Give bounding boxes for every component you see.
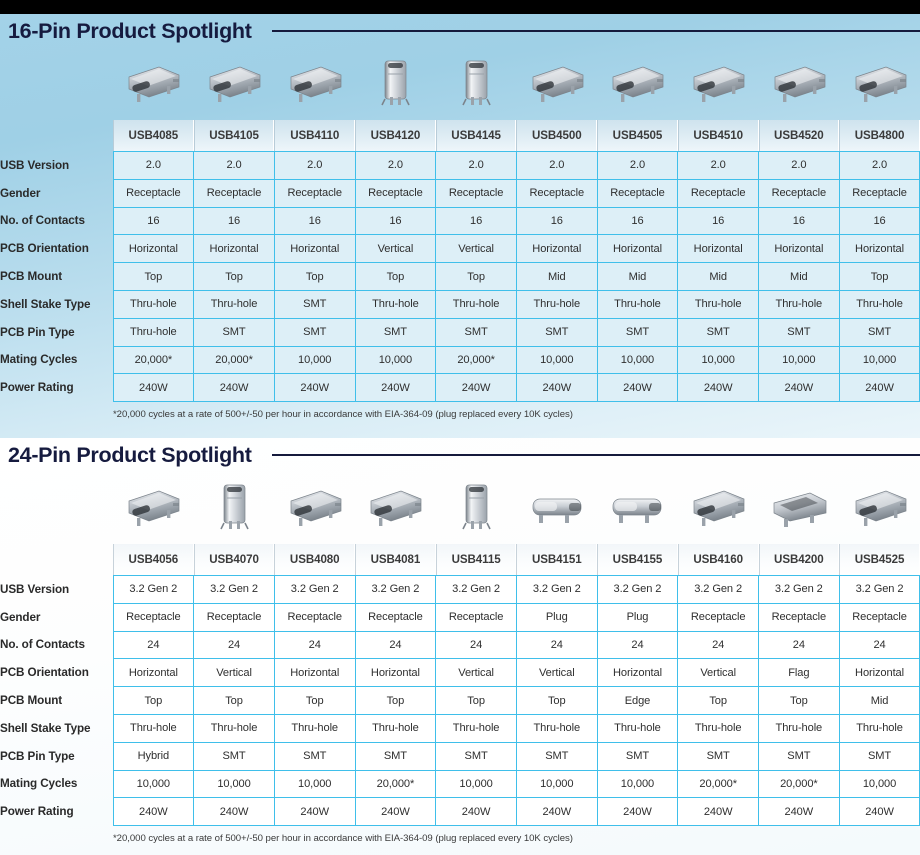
- spec-value-cell: Vertical: [678, 659, 759, 687]
- spec-value-cell: 3.2 Gen 2: [678, 576, 759, 604]
- spec-value-cell: SMT: [516, 318, 597, 346]
- spec-value-cell: 2.0: [839, 152, 920, 180]
- spec-value-cell: Horizontal: [274, 235, 355, 263]
- spec-value-cell: 10,000: [839, 346, 920, 374]
- spec-value-cell: Horizontal: [597, 235, 678, 263]
- spec-value-cell: Top: [678, 687, 759, 715]
- spec-value-cell: 3.2 Gen 2: [355, 576, 436, 604]
- spec-value-cell: SMT: [597, 318, 678, 346]
- spec-value-cell: Receptacle: [274, 603, 355, 631]
- spec-value-cell: 240W: [678, 374, 759, 402]
- spec-value-cell: Top: [355, 687, 436, 715]
- spec-row-label: USB Version: [0, 152, 113, 180]
- spec-value-cell: Thru-hole: [839, 714, 920, 742]
- spec-row-label: Shell Stake Type: [0, 714, 113, 742]
- spec-value-cell: 10,000: [678, 346, 759, 374]
- spec-value-cell: Hybrid: [113, 742, 194, 770]
- product-image-cell[interactable]: [597, 472, 678, 544]
- spec-value-cell: 10,000: [274, 346, 355, 374]
- table-row: Shell Stake TypeThru-holeThru-holeThru-h…: [0, 714, 920, 742]
- product-name-header[interactable]: USB4525: [839, 544, 920, 575]
- spec-value-cell: 240W: [274, 374, 355, 402]
- spec-value-cell: SMT: [597, 742, 678, 770]
- spec-row-label: PCB Mount: [0, 263, 113, 291]
- product-image-cell[interactable]: [516, 48, 597, 120]
- spec-value-cell: SMT: [436, 742, 517, 770]
- spec-value-cell: Mid: [597, 263, 678, 291]
- table-row: PCB OrientationHorizontalHorizontalHoriz…: [0, 235, 920, 263]
- spec-value-cell: 2.0: [194, 152, 275, 180]
- product-image-cell[interactable]: [597, 48, 678, 120]
- spec-value-cell: 20,000*: [113, 346, 194, 374]
- title-divider: [272, 454, 920, 456]
- spec-value-cell: 240W: [597, 798, 678, 826]
- spec-row-label: PCB Orientation: [0, 235, 113, 263]
- spec-value-cell: 240W: [355, 798, 436, 826]
- table-row: PCB OrientationHorizontalVerticalHorizon…: [0, 659, 920, 687]
- spec-value-cell: SMT: [274, 742, 355, 770]
- usb-c-receptacle-icon: [846, 477, 914, 540]
- spec-value-cell: Receptacle: [355, 179, 436, 207]
- spec-value-cell: Flag: [759, 659, 840, 687]
- spec-value-cell: Horizontal: [597, 659, 678, 687]
- spec-value-cell: SMT: [678, 318, 759, 346]
- spec-value-cell: Horizontal: [355, 659, 436, 687]
- spec-value-cell: 3.2 Gen 2: [113, 576, 194, 604]
- spec-value-cell: 3.2 Gen 2: [759, 576, 840, 604]
- spec-value-cell: 10,000: [597, 770, 678, 798]
- spec-value-cell: 240W: [839, 374, 920, 402]
- product-name-header[interactable]: USB4145: [436, 120, 517, 151]
- usb-c-vertical-icon: [366, 53, 424, 116]
- spec-value-cell: Thru-hole: [759, 290, 840, 318]
- spec-value-cell: 16: [113, 207, 194, 235]
- spec-comparison-table: USB Version2.02.02.02.02.02.02.02.02.02.…: [0, 151, 920, 402]
- usb-c-receptacle-icon: [119, 477, 187, 540]
- table-row: No. of Contacts16161616161616161616: [0, 207, 920, 235]
- table-row: PCB Pin TypeHybridSMTSMTSMTSMTSMTSMTSMTS…: [0, 742, 920, 770]
- usb-c-receptacle-icon: [684, 53, 752, 116]
- spec-row-label: Mating Cycles: [0, 346, 113, 374]
- spec-value-cell: Receptacle: [355, 603, 436, 631]
- product-image-cell[interactable]: [113, 48, 194, 120]
- product-name-header[interactable]: USB4115: [436, 544, 517, 575]
- spec-value-cell: Receptacle: [516, 179, 597, 207]
- product-name-header[interactable]: USB4085: [113, 120, 194, 151]
- spec-value-cell: Mid: [759, 263, 840, 291]
- spec-value-cell: 3.2 Gen 2: [597, 576, 678, 604]
- spec-row-label: Gender: [0, 603, 113, 631]
- product-name-header[interactable]: USB4080: [274, 544, 355, 575]
- spec-value-cell: Top: [274, 263, 355, 291]
- spec-value-cell: 240W: [274, 798, 355, 826]
- spec-value-cell: 240W: [355, 374, 436, 402]
- spec-value-cell: Thru-hole: [194, 290, 275, 318]
- spec-value-cell: 10,000: [194, 770, 275, 798]
- table-row: USB Version3.2 Gen 23.2 Gen 23.2 Gen 23.…: [0, 576, 920, 604]
- spec-value-cell: 240W: [113, 798, 194, 826]
- spec-value-cell: Thru-hole: [355, 290, 436, 318]
- spec-value-cell: 3.2 Gen 2: [274, 576, 355, 604]
- spec-value-cell: 16: [436, 207, 517, 235]
- spec-value-cell: 10,000: [436, 770, 517, 798]
- spec-row-label: PCB Orientation: [0, 659, 113, 687]
- spec-value-cell: Receptacle: [597, 179, 678, 207]
- spec-value-cell: 240W: [516, 374, 597, 402]
- product-image-cell[interactable]: [678, 472, 759, 544]
- spec-value-cell: Thru-hole: [274, 714, 355, 742]
- spec-value-cell: 10,000: [516, 346, 597, 374]
- product-image-cell[interactable]: [759, 48, 840, 120]
- spec-value-cell: Thru-hole: [678, 290, 759, 318]
- usb-c-vertical-icon: [447, 477, 505, 540]
- spec-value-cell: Vertical: [436, 235, 517, 263]
- spec-value-cell: Top: [113, 263, 194, 291]
- spec-value-cell: Mid: [678, 263, 759, 291]
- spec-value-cell: Thru-hole: [678, 714, 759, 742]
- usb-c-vertical-icon: [447, 53, 505, 116]
- product-name-header[interactable]: USB4070: [194, 544, 275, 575]
- spec-value-cell: 2.0: [274, 152, 355, 180]
- spec-value-cell: Thru-hole: [759, 714, 840, 742]
- spec-row-label: PCB Pin Type: [0, 318, 113, 346]
- table-row: USB Version2.02.02.02.02.02.02.02.02.02.…: [0, 152, 920, 180]
- table-row: GenderReceptacleReceptacleReceptacleRece…: [0, 603, 920, 631]
- spec-value-cell: Vertical: [355, 235, 436, 263]
- table-footnote: *20,000 cycles at a rate of 500+/-50 per…: [0, 826, 920, 844]
- table-row: No. of Contacts24242424242424242424: [0, 631, 920, 659]
- spec-value-cell: Vertical: [436, 659, 517, 687]
- usb-c-flag-icon: [766, 477, 832, 540]
- usb-c-receptacle-icon: [281, 53, 349, 116]
- spec-value-cell: 24: [436, 631, 517, 659]
- spec-value-cell: 240W: [194, 798, 275, 826]
- table-row: Mating Cycles10,00010,00010,00020,000*10…: [0, 770, 920, 798]
- spec-row-label: Shell Stake Type: [0, 290, 113, 318]
- product-image-cell[interactable]: [678, 48, 759, 120]
- spec-value-cell: Horizontal: [759, 235, 840, 263]
- product-image-cell[interactable]: [839, 472, 920, 544]
- spec-value-cell: 3.2 Gen 2: [516, 576, 597, 604]
- spec-value-cell: Receptacle: [274, 179, 355, 207]
- spec-value-cell: Top: [759, 687, 840, 715]
- spec-value-cell: Thru-hole: [194, 714, 275, 742]
- spec-value-cell: SMT: [759, 742, 840, 770]
- spec-row-label: No. of Contacts: [0, 631, 113, 659]
- spec-value-cell: 240W: [597, 374, 678, 402]
- spec-row-label: No. of Contacts: [0, 207, 113, 235]
- spec-value-cell: Receptacle: [194, 603, 275, 631]
- spec-value-cell: 2.0: [678, 152, 759, 180]
- spec-value-cell: Top: [194, 687, 275, 715]
- product-spotlight-page: 16-Pin Product Spotlight: [0, 0, 920, 855]
- spec-value-cell: 10,000: [113, 770, 194, 798]
- spec-value-cell: Horizontal: [113, 235, 194, 263]
- spec-value-cell: Receptacle: [194, 179, 275, 207]
- product-name-header[interactable]: USB4105: [194, 120, 275, 151]
- spec-value-cell: 20,000*: [759, 770, 840, 798]
- spec-value-cell: 20,000*: [436, 346, 517, 374]
- spec-value-cell: SMT: [355, 318, 436, 346]
- spec-value-cell: Receptacle: [839, 179, 920, 207]
- product-image-cell[interactable]: [759, 472, 840, 544]
- spec-value-cell: 2.0: [436, 152, 517, 180]
- product-image-cell[interactable]: [194, 472, 275, 544]
- product-name-header-row: USB4056USB4070USB4080USB4081USB4115USB41…: [0, 544, 920, 575]
- product-name-header[interactable]: USB4500: [516, 120, 597, 151]
- section-title-row: 24-Pin Product Spotlight: [0, 438, 920, 472]
- spec-value-cell: Receptacle: [678, 179, 759, 207]
- spec-value-cell: Top: [274, 687, 355, 715]
- product-name-header[interactable]: USB4800: [839, 120, 920, 151]
- product-name-header[interactable]: USB4056: [113, 544, 194, 575]
- product-name-header[interactable]: USB4505: [597, 120, 678, 151]
- spec-value-cell: 240W: [678, 798, 759, 826]
- spec-value-cell: Thru-hole: [516, 290, 597, 318]
- spec-value-cell: Horizontal: [516, 235, 597, 263]
- spec-value-cell: 16: [355, 207, 436, 235]
- spec-value-cell: 24: [355, 631, 436, 659]
- spec-row-label: PCB Mount: [0, 687, 113, 715]
- spec-value-cell: Vertical: [516, 659, 597, 687]
- product-name-header[interactable]: USB4520: [759, 120, 840, 151]
- spec-value-cell: 10,000: [355, 346, 436, 374]
- spec-value-cell: 10,000: [839, 770, 920, 798]
- spec-value-cell: Thru-hole: [516, 714, 597, 742]
- table-row: Power Rating240W240W240W240W240W240W240W…: [0, 374, 920, 402]
- product-name-header[interactable]: USB4160: [678, 544, 759, 575]
- spec-row-label: Power Rating: [0, 798, 113, 826]
- spec-value-cell: SMT: [274, 290, 355, 318]
- table-row: Mating Cycles20,000*20,000*10,00010,0002…: [0, 346, 920, 374]
- spec-value-cell: Receptacle: [113, 603, 194, 631]
- usb-c-plug-icon: [605, 477, 669, 540]
- table-row: Shell Stake TypeThru-holeThru-holeSMTThr…: [0, 290, 920, 318]
- spec-value-cell: 240W: [436, 798, 517, 826]
- spec-value-cell: Thru-hole: [436, 290, 517, 318]
- spec-value-cell: 3.2 Gen 2: [436, 576, 517, 604]
- spec-value-cell: Horizontal: [113, 659, 194, 687]
- spec-value-cell: Horizontal: [678, 235, 759, 263]
- spec-value-cell: Receptacle: [678, 603, 759, 631]
- spec-value-cell: Mid: [839, 687, 920, 715]
- section-title-row: 16-Pin Product Spotlight: [0, 14, 920, 48]
- spec-value-cell: 10,000: [597, 346, 678, 374]
- spec-value-cell: 24: [113, 631, 194, 659]
- usb-c-receptacle-icon: [765, 53, 833, 116]
- product-image-cell[interactable]: [274, 48, 355, 120]
- spec-value-cell: 2.0: [113, 152, 194, 180]
- spec-value-cell: 20,000*: [678, 770, 759, 798]
- spec-value-cell: Thru-hole: [597, 714, 678, 742]
- spec-value-cell: 2.0: [597, 152, 678, 180]
- spec-value-cell: SMT: [194, 318, 275, 346]
- spec-value-cell: 240W: [436, 374, 517, 402]
- spec-value-cell: 16: [839, 207, 920, 235]
- product-image-cell[interactable]: [355, 48, 436, 120]
- spec-value-cell: 24: [597, 631, 678, 659]
- spec-value-cell: SMT: [355, 742, 436, 770]
- spec-value-cell: 24: [759, 631, 840, 659]
- page-title: 16-Pin Product Spotlight: [8, 19, 252, 44]
- spec-row-label: Gender: [0, 179, 113, 207]
- usb-c-receptacle-icon: [684, 477, 752, 540]
- usb-c-receptacle-icon: [200, 53, 268, 116]
- spec-value-cell: Receptacle: [759, 179, 840, 207]
- table-row: PCB MountTopTopTopTopTopMidMidMidMidTop: [0, 263, 920, 291]
- section-24-pin: 24-Pin Product Spotlight: [0, 438, 920, 855]
- product-image-cell[interactable]: [355, 472, 436, 544]
- spec-value-cell: SMT: [274, 318, 355, 346]
- spec-value-cell: Receptacle: [113, 179, 194, 207]
- table-footnote: *20,000 cycles at a rate of 500+/-50 per…: [0, 402, 920, 420]
- product-name-header[interactable]: USB4510: [678, 120, 759, 151]
- spec-value-cell: 2.0: [759, 152, 840, 180]
- spec-value-cell: Top: [113, 687, 194, 715]
- usb-c-receptacle-icon: [361, 477, 429, 540]
- spec-value-cell: 24: [516, 631, 597, 659]
- spec-value-cell: Horizontal: [839, 659, 920, 687]
- spec-value-cell: Top: [194, 263, 275, 291]
- spec-value-cell: SMT: [436, 318, 517, 346]
- usb-c-receptacle-icon: [603, 53, 671, 116]
- spec-value-cell: Receptacle: [839, 603, 920, 631]
- spec-value-cell: Thru-hole: [113, 714, 194, 742]
- title-divider: [272, 30, 920, 32]
- product-image-cell[interactable]: [194, 48, 275, 120]
- spec-value-cell: Edge: [597, 687, 678, 715]
- spec-value-cell: Vertical: [194, 659, 275, 687]
- product-image-strip: [0, 48, 920, 120]
- spec-value-cell: 24: [678, 631, 759, 659]
- spec-value-cell: 16: [194, 207, 275, 235]
- product-name-header[interactable]: USB4155: [597, 544, 678, 575]
- spec-value-cell: 2.0: [516, 152, 597, 180]
- spec-comparison-table: USB Version3.2 Gen 23.2 Gen 23.2 Gen 23.…: [0, 575, 920, 826]
- top-black-bar: [0, 0, 920, 14]
- product-image-cell[interactable]: [274, 472, 355, 544]
- spec-value-cell: Top: [839, 263, 920, 291]
- spec-value-cell: 24: [839, 631, 920, 659]
- usb-c-receptacle-icon: [119, 53, 187, 116]
- spec-value-cell: 3.2 Gen 2: [194, 576, 275, 604]
- product-image-cell[interactable]: [113, 472, 194, 544]
- table-row: Power Rating240W240W240W240W240W240W240W…: [0, 798, 920, 826]
- spec-value-cell: 10,000: [759, 346, 840, 374]
- spec-value-cell: Plug: [516, 603, 597, 631]
- spec-value-cell: 240W: [113, 374, 194, 402]
- spec-row-label: PCB Pin Type: [0, 742, 113, 770]
- product-name-header-row: USB4085USB4105USB4110USB4120USB4145USB45…: [0, 120, 920, 151]
- table-row: GenderReceptacleReceptacleReceptacleRece…: [0, 179, 920, 207]
- usb-c-vertical-icon: [205, 477, 263, 540]
- spec-value-cell: 16: [597, 207, 678, 235]
- spec-value-cell: SMT: [839, 318, 920, 346]
- spec-value-cell: 3.2 Gen 2: [839, 576, 920, 604]
- product-name-header[interactable]: USB4151: [516, 544, 597, 575]
- spec-row-label: USB Version: [0, 576, 113, 604]
- table-row: PCB Pin TypeThru-holeSMTSMTSMTSMTSMTSMTS…: [0, 318, 920, 346]
- spec-value-cell: Receptacle: [436, 179, 517, 207]
- spec-value-cell: 24: [274, 631, 355, 659]
- spec-value-cell: 240W: [194, 374, 275, 402]
- spec-value-cell: SMT: [516, 742, 597, 770]
- table-row: PCB MountTopTopTopTopTopTopEdgeTopTopMid: [0, 687, 920, 715]
- spec-value-cell: 16: [678, 207, 759, 235]
- spec-value-cell: 2.0: [355, 152, 436, 180]
- product-name-header[interactable]: USB4120: [355, 120, 436, 151]
- spec-value-cell: Receptacle: [759, 603, 840, 631]
- product-name-header[interactable]: USB4081: [355, 544, 436, 575]
- spec-value-cell: 240W: [759, 798, 840, 826]
- spec-value-cell: Top: [516, 687, 597, 715]
- spec-value-cell: SMT: [759, 318, 840, 346]
- spec-value-cell: Horizontal: [274, 659, 355, 687]
- spec-row-label: Mating Cycles: [0, 770, 113, 798]
- spec-row-label: Power Rating: [0, 374, 113, 402]
- usb-c-receptacle-icon: [281, 477, 349, 540]
- spec-value-cell: Top: [436, 687, 517, 715]
- spec-value-cell: 240W: [516, 798, 597, 826]
- product-image-cell[interactable]: [516, 472, 597, 544]
- page-title: 24-Pin Product Spotlight: [8, 443, 252, 468]
- spec-value-cell: 240W: [759, 374, 840, 402]
- spec-value-cell: Thru-hole: [597, 290, 678, 318]
- section-16-pin: 16-Pin Product Spotlight: [0, 14, 920, 438]
- spec-value-cell: 16: [516, 207, 597, 235]
- spec-value-cell: Horizontal: [194, 235, 275, 263]
- spec-value-cell: 16: [759, 207, 840, 235]
- product-image-cell[interactable]: [839, 48, 920, 120]
- spec-value-cell: Thru-hole: [436, 714, 517, 742]
- spec-value-cell: 16: [274, 207, 355, 235]
- spec-value-cell: SMT: [194, 742, 275, 770]
- spec-value-cell: Thru-hole: [113, 290, 194, 318]
- spec-value-cell: Receptacle: [436, 603, 517, 631]
- usb-c-receptacle-icon: [846, 53, 914, 116]
- spec-value-cell: Plug: [597, 603, 678, 631]
- spec-value-cell: 240W: [839, 798, 920, 826]
- product-image-cell[interactable]: [436, 472, 517, 544]
- product-name-header[interactable]: USB4110: [274, 120, 355, 151]
- spec-value-cell: 10,000: [516, 770, 597, 798]
- spec-value-cell: 24: [194, 631, 275, 659]
- spec-value-cell: Thru-hole: [113, 318, 194, 346]
- product-image-cell[interactable]: [436, 48, 517, 120]
- spec-value-cell: Top: [436, 263, 517, 291]
- spec-value-cell: Top: [355, 263, 436, 291]
- usb-c-plug-icon: [525, 477, 589, 540]
- spec-value-cell: Horizontal: [839, 235, 920, 263]
- product-image-strip: [0, 472, 920, 544]
- spec-value-cell: Mid: [516, 263, 597, 291]
- product-name-header[interactable]: USB4200: [759, 544, 840, 575]
- spec-value-cell: Thru-hole: [355, 714, 436, 742]
- spec-value-cell: 20,000*: [355, 770, 436, 798]
- spec-value-cell: Thru-hole: [839, 290, 920, 318]
- spec-value-cell: SMT: [678, 742, 759, 770]
- spec-value-cell: 20,000*: [194, 346, 275, 374]
- spec-value-cell: 10,000: [274, 770, 355, 798]
- spec-value-cell: SMT: [839, 742, 920, 770]
- usb-c-receptacle-icon: [523, 53, 591, 116]
